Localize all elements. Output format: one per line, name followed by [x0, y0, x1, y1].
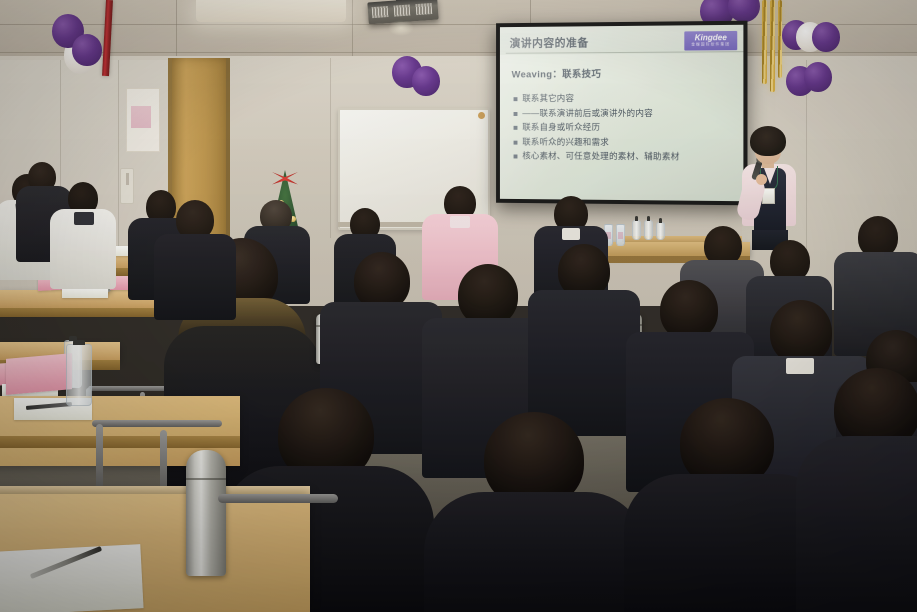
clear-water-bottle[interactable] [616, 224, 625, 246]
chair-leg [96, 424, 103, 490]
slide-bullet-item: 联系听众的兴趣和需求 [514, 137, 736, 147]
bullet-square-icon [514, 112, 518, 116]
projection-screen-frame: 演讲内容的准备 Kingdee 金蝶国际软件集团 Weaving：联系技巧 联系… [496, 21, 747, 206]
presenter-hair [750, 126, 786, 156]
kingdee-logo-subtext: 金蝶国际软件集团 [691, 42, 730, 47]
slide-bullet-list: 联系其它内容 ——联系演讲前后或演讲外的内容 联系自身或听众经历 联系听众的兴趣… [514, 94, 736, 167]
balloon-purple [412, 66, 440, 96]
slide-bullet-item: 核心素材、可任意处理的素材、辅助素材 [514, 152, 736, 162]
notepaper [0, 544, 144, 612]
clear-water-bottle[interactable] [632, 220, 641, 240]
stainless-steel-thermos[interactable] [186, 450, 226, 576]
pink-name-card [6, 353, 72, 395]
slide-bullet-item: ——联系演讲前后或演讲外的内容 [514, 108, 736, 117]
slide-bullet-item: 联系其它内容 [514, 94, 736, 103]
wall-seam [330, 58, 331, 238]
head [770, 300, 832, 364]
whiteboard-mount [478, 112, 485, 119]
collar [562, 228, 580, 240]
torso [796, 436, 917, 612]
kingdee-logo-text: Kingdee [695, 34, 727, 42]
slide-subtitle: Weaving：联系技巧 [512, 66, 602, 80]
balloon-purple [812, 22, 840, 52]
bullet-text: 联系听众的兴趣和需求 [522, 137, 609, 146]
desk-edge [0, 308, 176, 317]
poster-graphic [131, 106, 151, 128]
bullet-text: 联系其它内容 [522, 94, 574, 103]
torso [424, 492, 646, 612]
clear-water-bottle[interactable] [656, 222, 665, 240]
gold-tinsel-streamer [770, 0, 775, 92]
ceiling-seam [352, 0, 353, 56]
projection-screen: 演讲内容的准备 Kingdee 金蝶国际软件集团 Weaving：联系技巧 联系… [500, 25, 743, 201]
slide-bullet-item: 联系自身或听众经历 [514, 123, 736, 132]
bullet-square-icon [514, 126, 518, 130]
audience-member [534, 244, 634, 434]
torso [154, 234, 236, 320]
audience-member [156, 200, 234, 320]
audience-member-foreground [806, 368, 917, 612]
audience-member [56, 182, 112, 298]
bullet-text: ——联系演讲前后或演讲外的内容 [522, 108, 653, 117]
desk-edge [0, 436, 240, 448]
clear-water-bottle[interactable] [644, 220, 653, 240]
collar [450, 216, 470, 228]
head [458, 264, 518, 326]
balloon-purple [804, 62, 832, 92]
chair-rail [92, 420, 222, 427]
audience-member-foreground [424, 412, 644, 612]
balloon-purple [72, 34, 102, 66]
bullet-square-icon [514, 97, 518, 101]
clear-water-bottle[interactable] [66, 344, 92, 406]
presenter-hand [756, 174, 767, 185]
bullet-square-icon [514, 140, 518, 144]
bullet-text: 联系自身或听众经历 [522, 123, 600, 132]
bullet-text: 核心素材、可任意处理的素材、辅助素材 [522, 152, 679, 162]
ceiling-light [196, 0, 346, 22]
gold-tinsel-streamer [762, 0, 767, 84]
chair-rail [218, 494, 338, 503]
bullet-square-icon [514, 154, 518, 158]
slide-title: 演讲内容的准备 [510, 34, 589, 51]
classroom-photo: 演讲内容的准备 Kingdee 金蝶国际软件集团 Weaving：联系技巧 联系… [0, 0, 917, 612]
projector-lens-glow [388, 20, 414, 36]
ceiling-seam [176, 0, 177, 56]
collar [74, 212, 94, 225]
head [660, 280, 718, 340]
kingdee-logo: Kingdee 金蝶国际软件集团 [684, 31, 737, 51]
